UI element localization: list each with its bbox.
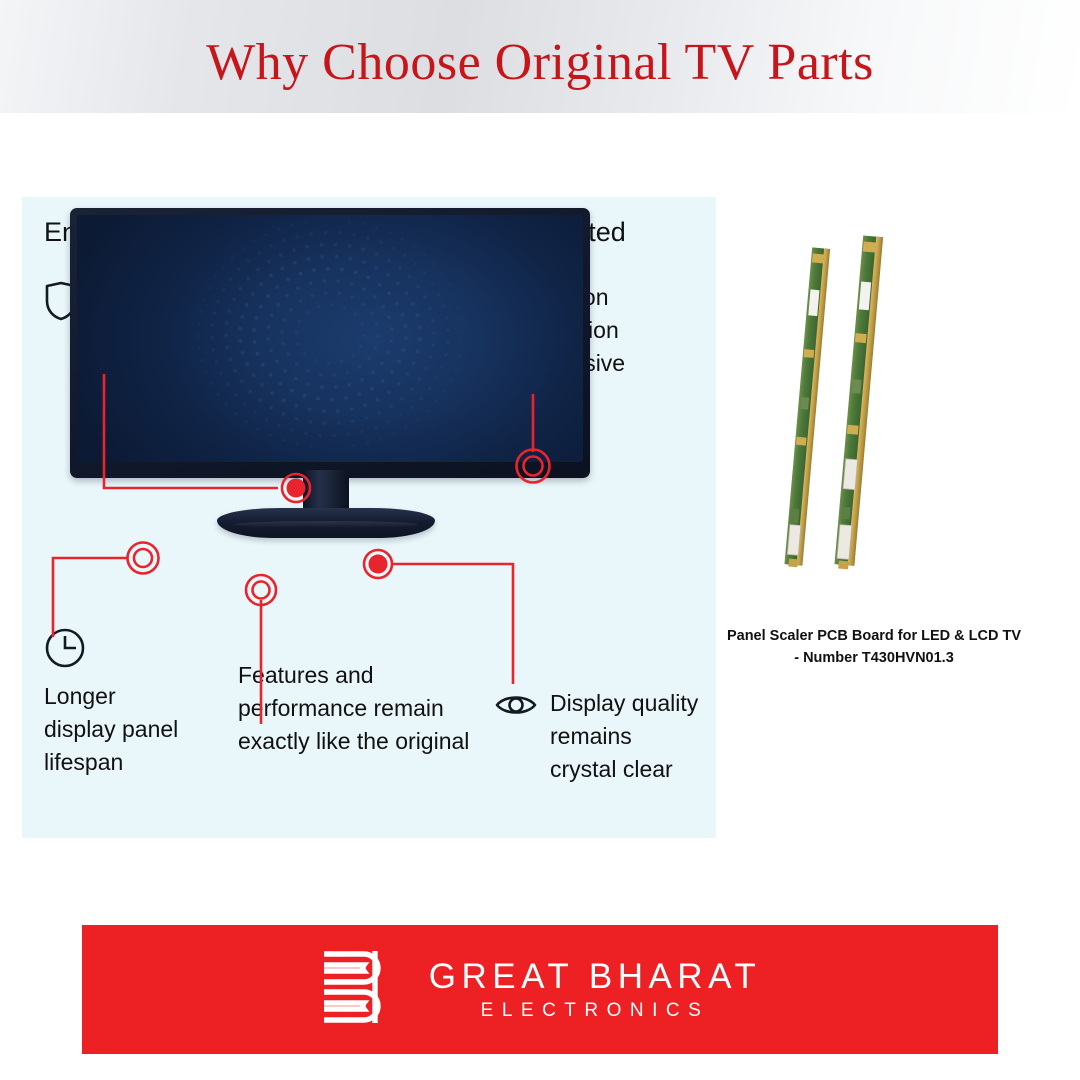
great-bharat-logo-icon: [319, 947, 393, 1032]
tv-body: [70, 208, 590, 478]
tv-screen: [77, 215, 583, 462]
product-caption: Panel Scaler PCB Board for LED & LCD TV …: [700, 626, 1048, 670]
brand-subtitle: ELECTRONICS: [429, 1001, 761, 1020]
screen-dot-pattern: [180, 219, 480, 449]
footer-band: GREAT BHARAT ELECTRONICS: [82, 925, 998, 1054]
poster-canvas: Why Choose Original TV Parts Enjoy Long-…: [0, 0, 1080, 1080]
tv-illustration: [46, 208, 606, 708]
pcb-board-front: [834, 235, 883, 569]
brand-text: GREAT BHARAT ELECTRONICS: [429, 959, 761, 1020]
tv-stand-base: [217, 508, 435, 538]
product-caption-line2: - Number T430HVN01.3: [700, 648, 1048, 670]
pcb-board-back: [784, 247, 830, 567]
brand-name: GREAT BHARAT: [429, 959, 761, 994]
product-caption-line1: Panel Scaler PCB Board for LED & LCD TV: [700, 626, 1048, 648]
product-image: [752, 230, 952, 590]
page-title: Why Choose Original TV Parts: [0, 33, 1080, 92]
brand-lockup: GREAT BHARAT ELECTRONICS: [82, 925, 998, 1054]
pcb-board-pair: [752, 230, 952, 590]
